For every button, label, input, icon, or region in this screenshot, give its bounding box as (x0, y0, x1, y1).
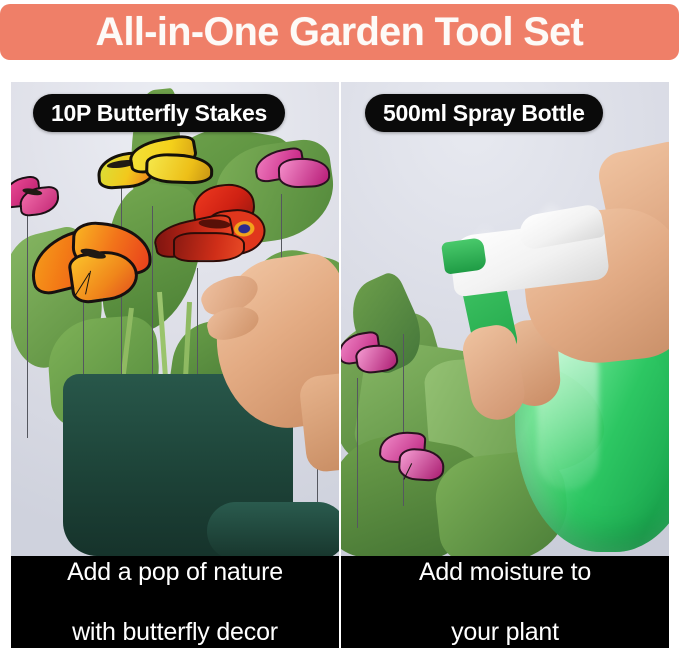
butterfly-stake (341, 328, 398, 379)
pot-saucer (207, 502, 339, 556)
caption-text: Add a pop of nature with butterfly decor (51, 557, 299, 647)
badge-butterfly-stakes: 10P Butterfly Stakes (33, 94, 285, 132)
butterfly-stake (26, 218, 152, 312)
butterfly-wing (173, 232, 245, 262)
caption-spray-bottle: Add moisture to your plant (341, 556, 669, 648)
badge-spray-bottle: 500ml Spray Bottle (365, 94, 603, 132)
stake-wire (357, 378, 358, 528)
badge-label: 10P Butterfly Stakes (51, 102, 267, 125)
spray-nozzle (441, 237, 487, 275)
butterfly-wing (278, 157, 331, 189)
product-photo-spray-bottle: 500ml Spray Bottle (341, 82, 669, 556)
caption-line-2: your plant (411, 617, 599, 647)
product-panel-butterfly-stakes: 10P Butterfly Stakes Add a pop of nature… (11, 82, 339, 648)
butterfly-stake (149, 180, 269, 275)
butterfly-wing (145, 153, 214, 185)
product-panel-spray-bottle: 500ml Spray Bottle Add moisture to your … (341, 82, 669, 648)
caption-line-2: with butterfly decor (59, 617, 291, 647)
caption-butterfly-stakes: Add a pop of nature with butterfly decor (11, 556, 339, 648)
human-wrist (298, 371, 339, 474)
caption-text: Add moisture to your plant (403, 557, 607, 647)
badge-label: 500ml Spray Bottle (383, 102, 585, 125)
product-photo-butterfly-stakes: 10P Butterfly Stakes (11, 82, 339, 556)
caption-line-1: Add a pop of nature (59, 557, 291, 587)
header-banner: All-in-One Garden Tool Set (0, 4, 679, 60)
butterfly-stake (11, 173, 61, 223)
butterfly-wing (354, 342, 399, 376)
butterfly-stake (377, 428, 444, 484)
caption-line-1: Add moisture to (411, 557, 599, 587)
butterfly-stake (128, 137, 214, 186)
page-title: All-in-One Garden Tool Set (96, 12, 584, 52)
